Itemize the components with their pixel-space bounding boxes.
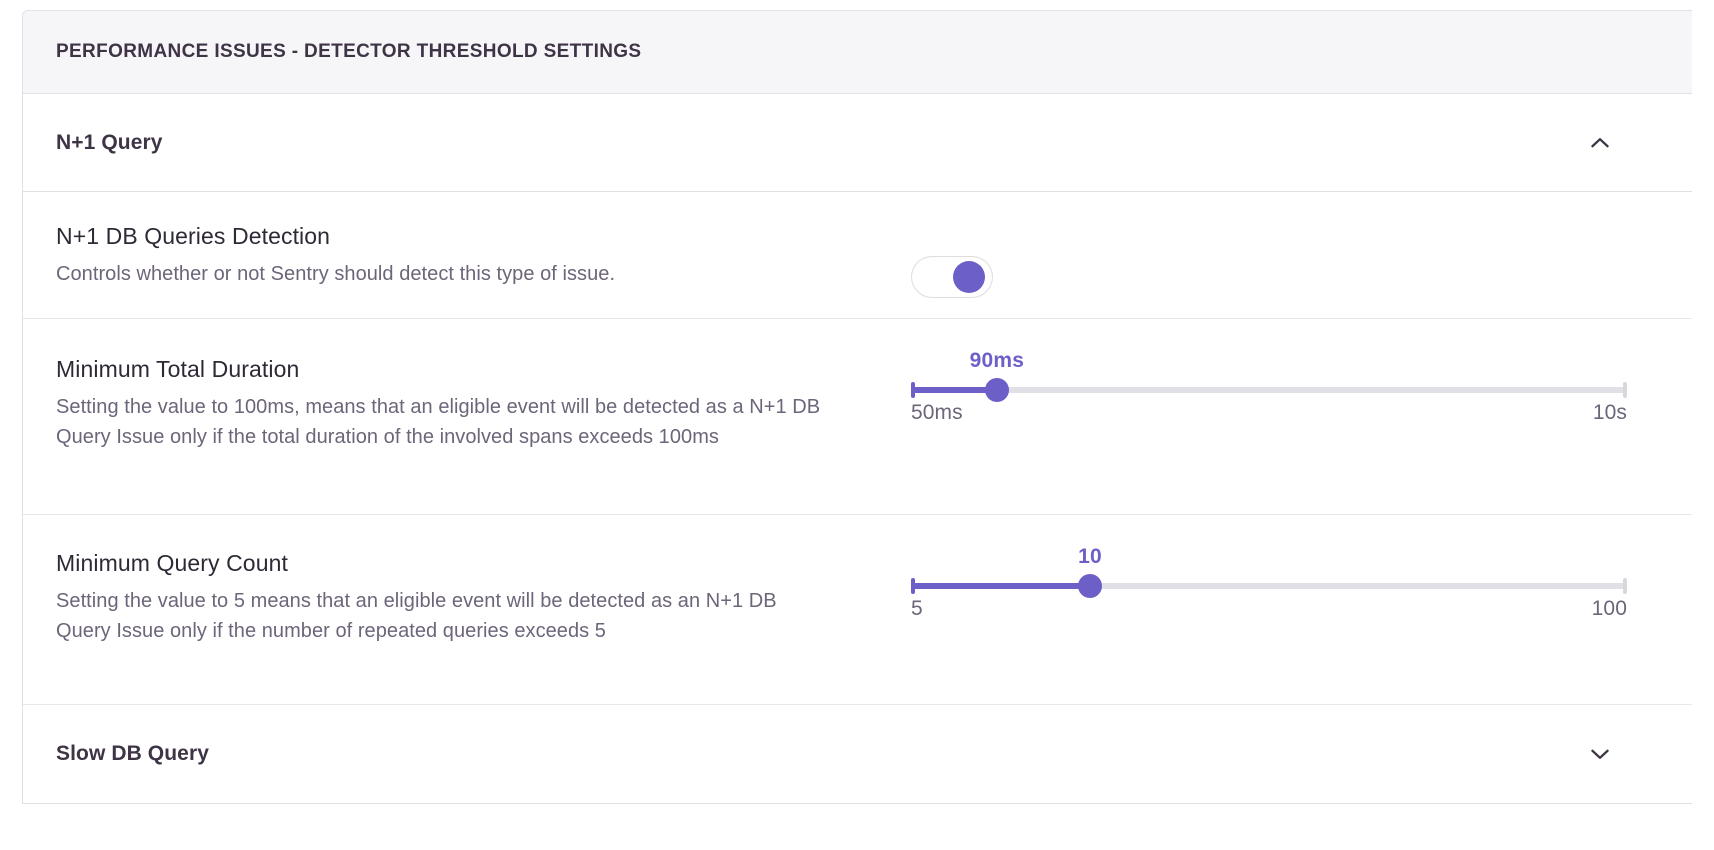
group-header-n-plus-1-query[interactable]: N+1 Query: [23, 94, 1692, 192]
panel-header: Performance Issues - Detector Threshold …: [23, 11, 1692, 94]
field-row-minimum-query-count: Minimum Query Count Setting the value to…: [23, 515, 1692, 705]
minimum-query-count-slider[interactable]: 10 5 100: [911, 545, 1627, 619]
field-text-block: N+1 DB Queries Detection Controls whethe…: [23, 192, 783, 324]
slider-fill: [911, 583, 1090, 589]
field-text-block: Minimum Query Count Setting the value to…: [23, 515, 823, 681]
settings-page: Performance Issues - Detector Threshold …: [0, 0, 1714, 850]
slider-min-label: 5: [911, 597, 923, 621]
slider-thumb[interactable]: [1078, 574, 1102, 598]
slider-range-labels: 50ms 10s: [911, 401, 1627, 425]
slider-min-tick: [911, 578, 915, 594]
slider-range-labels: 5 100: [911, 597, 1627, 621]
slider-min-tick: [911, 382, 915, 398]
field-help-text: Setting the value to 5 means that an eli…: [56, 587, 823, 646]
field-help-text: Setting the value to 100ms, means that a…: [56, 393, 823, 452]
field-label: Minimum Query Count: [56, 549, 823, 578]
field-label: N+1 DB Queries Detection: [56, 222, 783, 251]
field-help-text: Controls whether or not Sentry should de…: [56, 260, 783, 290]
chevron-down-icon[interactable]: [1587, 741, 1613, 767]
chevron-up-icon[interactable]: [1587, 130, 1613, 156]
panel-title: Performance Issues - Detector Threshold …: [56, 41, 641, 63]
toggle-knob: [953, 261, 985, 293]
group-title: N+1 Query: [56, 131, 163, 155]
field-control-block: 10 5 100: [911, 545, 1627, 619]
detector-threshold-panel: Performance Issues - Detector Threshold …: [22, 10, 1692, 804]
minimum-total-duration-slider[interactable]: 90ms 50ms 10s: [911, 349, 1627, 423]
slider-min-label: 50ms: [911, 401, 963, 425]
field-row-n1-db-queries-detection: N+1 DB Queries Detection Controls whethe…: [23, 192, 1692, 319]
slider-max-tick: [1623, 382, 1627, 398]
slider-track[interactable]: [911, 387, 1627, 393]
field-control-block: [911, 192, 993, 319]
field-text-block: Minimum Total Duration Setting the value…: [23, 319, 823, 487]
field-row-minimum-total-duration: Minimum Total Duration Setting the value…: [23, 319, 1692, 515]
group-header-slow-db-query[interactable]: Slow DB Query: [23, 705, 1692, 803]
field-label: Minimum Total Duration: [56, 355, 823, 384]
slider-max-tick: [1623, 578, 1627, 594]
n1-db-queries-detection-toggle[interactable]: [911, 256, 993, 298]
slider-max-label: 100: [1592, 597, 1627, 621]
slider-max-label: 10s: [1593, 401, 1627, 425]
slider-current-value: 90ms: [970, 349, 1025, 373]
field-control-block: 90ms 50ms 10s: [911, 349, 1627, 423]
slider-thumb[interactable]: [985, 378, 1009, 402]
group-title: Slow DB Query: [56, 742, 209, 766]
slider-current-value: 10: [1078, 545, 1102, 569]
